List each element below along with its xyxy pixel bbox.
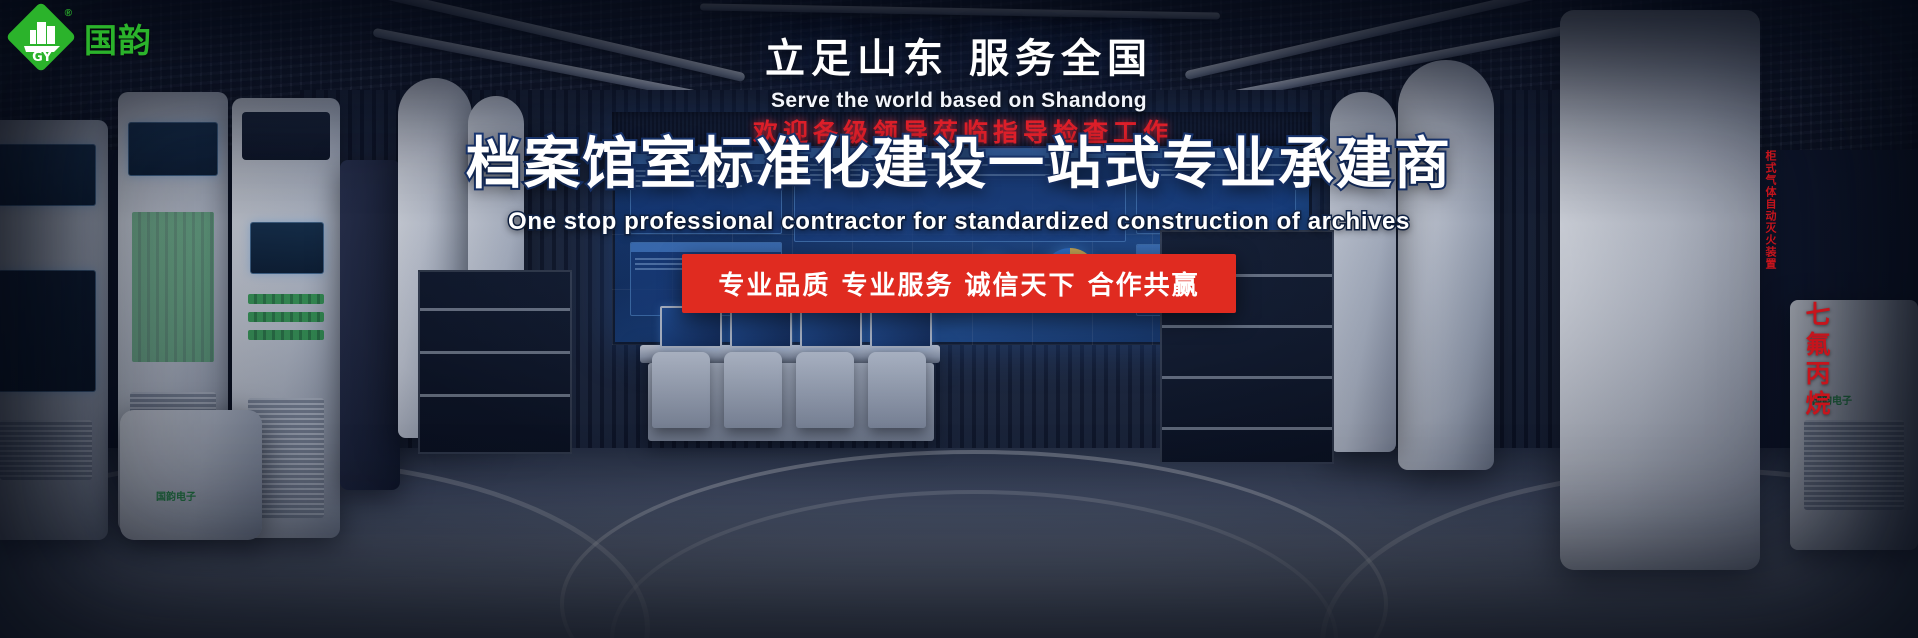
- pillar-vertical-text: 七氟丙烷: [1804, 300, 1832, 418]
- banner-content: 欢迎各级领导莅临指导检查工作 七氟丙烷 柜式气体自动灭火装置 GY ® 国韵 立…: [0, 0, 1918, 638]
- hero-headline: 档案馆室标准化建设一站式专业承建商: [466, 119, 1452, 200]
- hero-text-stack: 立足山东 服务全国 Serve the world based on Shand…: [0, 38, 1918, 313]
- hero-banner: 国韵电子 国韵电子: [0, 0, 1918, 638]
- hero-subline-en: One stop professional contractor for sta…: [508, 208, 1410, 236]
- hero-kicker-en: Serve the world based on Shandong: [771, 89, 1147, 113]
- hero-kicker-cn: 立足山东 服务全国: [765, 38, 1153, 80]
- registered-trademark-icon: ®: [65, 8, 72, 19]
- hero-cta-banner[interactable]: 专业品质 专业服务 诚信天下 合作共赢: [682, 254, 1235, 313]
